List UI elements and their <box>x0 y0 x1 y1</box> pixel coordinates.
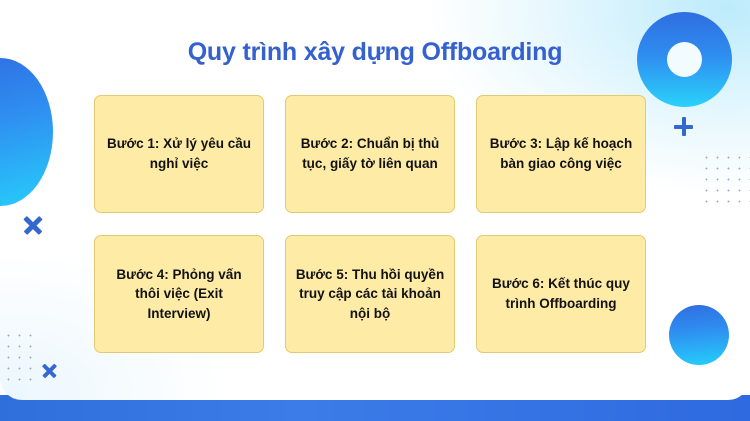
step-card-label: Bước 6: Kết thúc quy trình Offboarding <box>485 274 637 313</box>
step-card-label: Bước 1: Xử lý yêu cầu nghỉ việc <box>103 134 255 173</box>
x-mark-icon <box>41 362 58 379</box>
page-title: Quy trình xây dựng Offboarding <box>0 38 750 67</box>
slide-canvas: Quy trình xây dựng Offboarding Bước 1: X… <box>0 0 750 421</box>
step-card-1[interactable]: Bước 1: Xử lý yêu cầu nghỉ việc <box>94 95 264 213</box>
step-card-label: Bước 2: Chuẩn bị thủ tục, giấy tờ liên q… <box>294 134 446 173</box>
dot-grid-icon <box>701 152 750 208</box>
step-card-5[interactable]: Bước 5: Thu hồi quyền truy cập các tài k… <box>285 235 455 353</box>
plus-icon <box>674 117 693 136</box>
dot-grid-icon <box>0 330 37 386</box>
step-card-2[interactable]: Bước 2: Chuẩn bị thủ tục, giấy tờ liên q… <box>285 95 455 213</box>
x-mark-icon <box>22 214 44 236</box>
step-card-label: Bước 5: Thu hồi quyền truy cập các tài k… <box>294 265 446 324</box>
step-card-6[interactable]: Bước 6: Kết thúc quy trình Offboarding <box>476 235 646 353</box>
step-card-3[interactable]: Bước 3: Lập kế hoạch bàn giao công việc <box>476 95 646 213</box>
step-card-label: Bước 4: Phỏng vấn thôi việc (Exit Interv… <box>103 265 255 324</box>
decorative-circle-left-icon <box>0 58 53 206</box>
step-card-4[interactable]: Bước 4: Phỏng vấn thôi việc (Exit Interv… <box>94 235 264 353</box>
decorative-circle-bottom-right-icon <box>669 305 729 365</box>
steps-grid: Bước 1: Xử lý yêu cầu nghỉ việc Bước 2: … <box>94 95 646 353</box>
slide-content-area: Quy trình xây dựng Offboarding Bước 1: X… <box>0 0 750 400</box>
step-card-label: Bước 3: Lập kế hoạch bàn giao công việc <box>485 134 637 173</box>
